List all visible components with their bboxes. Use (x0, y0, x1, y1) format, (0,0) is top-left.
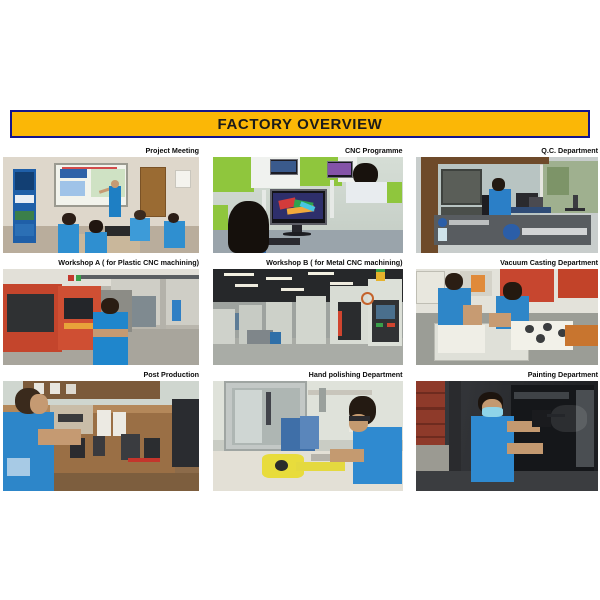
photo-caption-hand-polishing: Hand polishing Department (213, 369, 403, 381)
photo-project-meeting (3, 157, 199, 253)
photo-grid-row: Project Meeting CNC Program (3, 145, 598, 253)
photo-caption-workshop-a: Workshop A ( for Plastic CNC machining) (3, 257, 199, 269)
photo-caption-qc-department: Q.C. Department (416, 145, 598, 157)
photo-caption-painting: Painting Department (416, 369, 598, 381)
photo-cell-vacuum-casting: Vacuum Casting Department (416, 257, 598, 365)
photo-cell-painting: Painting Department (416, 369, 598, 491)
photo-post-production (3, 381, 199, 491)
photo-workshop-a (3, 269, 199, 365)
page-title: FACTORY OVERVIEW (218, 116, 383, 133)
photo-qc-department (416, 157, 598, 253)
photo-cell-cnc-programme: CNC Programme (213, 145, 403, 253)
photo-caption-post-production: Post Production (3, 369, 199, 381)
photo-cell-project-meeting: Project Meeting (3, 145, 199, 253)
photo-workshop-b (213, 269, 403, 365)
photo-grid: Project Meeting CNC Program (3, 145, 598, 495)
photo-cell-qc-department: Q.C. Department (416, 145, 598, 253)
photo-cnc-programme (213, 157, 403, 253)
photo-cell-workshop-b: Workshop B ( for Metal CNC machining) (213, 257, 403, 365)
photo-cell-post-production: Post Production (3, 369, 199, 491)
photo-painting (416, 381, 598, 491)
photo-grid-row: Workshop A ( for Plastic CNC machining) … (3, 257, 598, 365)
photo-hand-polishing (213, 381, 403, 491)
photo-caption-project-meeting: Project Meeting (3, 145, 199, 157)
photo-caption-vacuum-casting: Vacuum Casting Department (416, 257, 598, 269)
page-title-banner: FACTORY OVERVIEW (10, 110, 590, 138)
photo-cell-hand-polishing: Hand polishing Department (213, 369, 403, 491)
photo-caption-cnc-programme: CNC Programme (213, 145, 403, 157)
photo-cell-workshop-a: Workshop A ( for Plastic CNC machining) (3, 257, 199, 365)
photo-caption-workshop-b: Workshop B ( for Metal CNC machining) (213, 257, 403, 269)
photo-grid-row: Post Production Hand polishing Departmen… (3, 369, 598, 491)
photo-vacuum-casting (416, 269, 598, 365)
factory-overview-page: FACTORY OVERVIEW Project Meeting (0, 0, 600, 600)
